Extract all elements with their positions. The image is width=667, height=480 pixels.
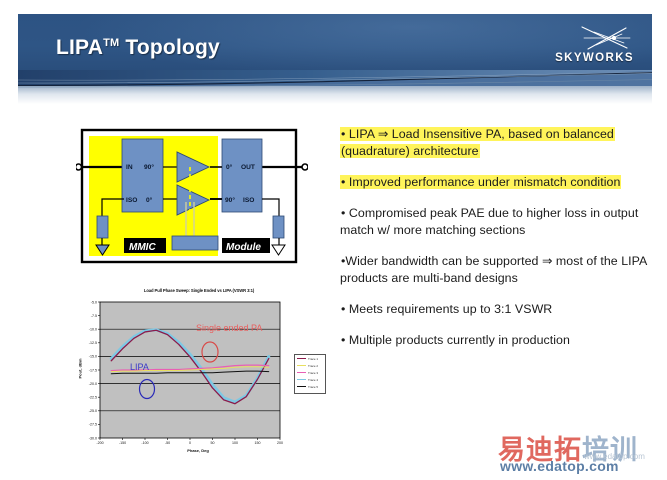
bullet-list: • LIPA ⇒ Load Insensitive PA, based on b… [340,126,658,363]
brand-logo: SKYWORKS [528,24,636,76]
chart-y-tick-label: -30.0 [89,436,97,440]
hybrid-right-0-label: 0° [226,163,233,171]
chart-legend-swatch [297,386,306,388]
watermark-url: www.edatop.com [500,458,619,474]
bias-block [172,236,218,250]
chart-legend-item: Trace 1 [295,355,325,362]
bullet-text: • LIPA ⇒ Load Insensitive PA, based on b… [340,127,615,158]
brand-name: SKYWORKS [555,52,634,64]
chart-plot: -5.0-7.5-10.0-12.5-15.0-17.5-20.0-22.5-2… [78,288,320,466]
chart-x-tick-label: -100 [141,441,148,445]
chart-legend-label: Trace 2 [308,364,318,368]
bullet-text: • Multiple products currently in product… [340,333,571,347]
hybrid-left-in-label: IN [126,164,133,171]
hybrid-left-0-label: 0° [146,196,153,204]
lipa-block-diagram: IN 90° ISO 0° 0° OUT 90° ISO [76,126,308,268]
chart-y-tick-label: -12.5 [89,341,97,345]
hybrid-right-90-label: 90° [225,196,235,204]
chart-y-axis-label: Pout, dBm [78,359,83,379]
chart-legend-swatch [297,372,306,374]
slide-canvas: LIPATM Topology SKYWORKS [0,0,667,480]
page-title-trademark: TM [103,37,119,49]
chart-y-tick-label: -15.0 [89,355,97,359]
chart-legend-swatch [297,358,306,360]
hybrid-right-out-label: OUT [241,164,255,171]
bullet-text: • Compromised peak PAE due to higher los… [340,206,638,237]
chart-legend-label: Trace 4 [308,378,318,382]
module-label: Module [226,242,261,253]
chart-legend-label: Trace 5 [308,385,318,389]
chart-y-tick-label: -10.0 [89,328,97,332]
header-wave-decoration [18,70,652,104]
chart-y-ticks: -5.0-7.5-10.0-12.5-15.0-17.5-20.0-22.5-2… [89,300,100,440]
chart-legend-item: Trace 3 [295,369,325,376]
chart-x-tick-label: -150 [119,441,126,445]
chart-x-tick-label: 150 [255,441,261,445]
chart-legend-item: Trace 2 [295,362,325,369]
site-watermark: 易迪拓培训 www.edatop.com www.edatop.com [496,428,662,476]
chart-legend-swatch [297,365,306,367]
chart-x-ticks: -200-150-100-50050100150200 [96,438,283,445]
chart-y-tick-label: -17.5 [89,368,97,372]
page-title: LIPATM Topology [56,36,220,60]
chart-legend-swatch [297,379,306,381]
chart-x-axis-label: Phase, Deg [138,448,258,453]
chart-legend: Trace 1Trace 2Trace 3Trace 4Trace 5 [294,354,326,394]
bullet-item-5: • Meets requirements up to 3:1 VSWR [340,301,658,318]
page-title-rest: Topology [119,36,220,59]
chart-annotation-lipa: LIPA [130,362,149,372]
bullet-item-2: • Improved performance under mismatch co… [340,174,658,191]
chart-y-tick-label: -25.0 [89,409,97,413]
termination-resistor-right [273,216,284,238]
hybrid-right-iso-label: ISO [243,197,254,204]
chart-y-tick-label: -20.0 [89,382,97,386]
termination-resistor-left [97,216,108,238]
chart-legend-item: Trace 4 [295,376,325,383]
bullet-item-6: • Multiple products currently in product… [340,332,658,349]
bullet-item-3: • Compromised peak PAE due to higher los… [340,205,658,239]
chart-x-tick-label: -50 [165,441,170,445]
bullet-text: • Meets requirements up to 3:1 VSWR [340,302,553,316]
chart-legend-item: Trace 5 [295,383,325,390]
skyworks-swoosh-icon [580,24,632,54]
chart-y-tick-label: -5.0 [91,300,97,304]
chart-x-tick-label: 200 [277,441,283,445]
chart-x-tick-label: 50 [211,441,215,445]
bullet-text: • Improved performance under mismatch co… [340,175,621,189]
mmic-label: MMIC [129,242,156,253]
hybrid-left-iso-label: ISO [126,197,137,204]
chart-annotation-single-ended: Single ended PA [196,323,262,333]
bullet-item-4: •Wider bandwidth can be supported ⇒ most… [340,253,658,287]
page-title-main: LIPA [56,36,103,59]
chart-x-tick-label: 100 [232,441,238,445]
chart-x-tick-label: 0 [189,441,191,445]
chart-y-tick-label: -27.5 [89,423,97,427]
load-pull-chart: Load Pull Phase Sweep: Single Ended vs L… [78,288,320,466]
bullet-item-1: • LIPA ⇒ Load Insensitive PA, based on b… [340,126,658,160]
chart-x-tick-label: -200 [96,441,103,445]
hybrid-left-90-label: 90° [144,163,154,171]
chart-legend-label: Trace 1 [308,357,318,361]
chart-legend-label: Trace 3 [308,371,318,375]
bullet-text: •Wider bandwidth can be supported ⇒ most… [340,254,647,285]
chart-y-tick-label: -22.5 [89,396,97,400]
chart-y-tick-label: -7.5 [91,314,97,318]
